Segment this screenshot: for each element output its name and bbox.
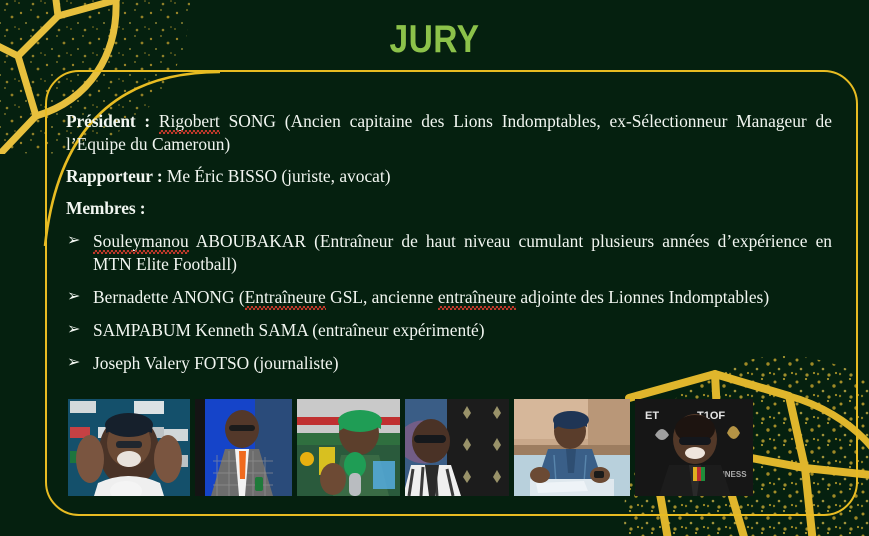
photo-jury-member-1 [68,399,190,496]
role-president-name-misspelled: Rigobert [159,111,220,131]
jury-photo-strip: ET T1OF NNESS [68,399,760,496]
member-1-misspelled: Souleymanou [93,231,189,251]
member-4-text: Joseph Valery FOTSO (journaliste) [93,352,832,375]
photo-jury-member-5 [514,399,630,496]
role-president-label: Président : [66,111,150,131]
member-2-pre: Bernadette ANONG ( [93,287,245,307]
bullet-arrow-icon: ➢ [67,351,80,372]
member-2-text: Bernadette ANONG (Entraîneure GSL, ancie… [93,286,832,309]
page-title: JURY [61,18,808,62]
role-president: Président : Rigobert SONG (Ancien capita… [66,110,832,156]
jury-content: Président : Rigobert SONG (Ancien capita… [66,110,832,385]
role-rapporteur: Rapporteur : Me Éric BISSO (juriste, avo… [66,165,832,188]
member-2-mid: GSL, ancienne [326,287,438,307]
member-2-misspelled-2: entraîneure [438,287,516,307]
member-1-text: Souleymanou ABOUBAKAR (Entraîneur de hau… [93,230,832,276]
member-1-rest: ABOUBAKAR (Entraîneur de haut niveau cum… [93,231,832,274]
photo-jury-member-2 [195,399,292,496]
photo-jury-member-4 [405,399,509,496]
list-item: ➢ SAMPABUM Kenneth SAMA (entraîneur expé… [66,319,832,342]
photo-jury-member-6: ET T1OF NNESS [635,399,753,496]
member-2-misspelled: Entraîneure [245,287,326,307]
bullet-arrow-icon: ➢ [67,318,80,339]
list-item: ➢ Souleymanou ABOUBAKAR (Entraîneur de h… [66,230,832,276]
list-item: ➢ Joseph Valery FOTSO (journaliste) [66,352,832,375]
slide-jury: JURY Président : Rigobert SONG (Ancien c… [0,0,869,536]
svg-text:ET: ET [645,410,659,422]
bullet-arrow-icon: ➢ [67,285,80,306]
role-rapporteur-detail: Me Éric BISSO (juriste, avocat) [163,166,391,186]
bullet-arrow-icon: ➢ [67,229,80,250]
role-rapporteur-label: Rapporteur : [66,166,163,186]
list-item: ➢ Bernadette ANONG (Entraîneure GSL, anc… [66,286,832,309]
members-list: ➢ Souleymanou ABOUBAKAR (Entraîneur de h… [66,230,832,376]
member-2-rest: adjointe des Lionnes Indomptables) [516,287,769,307]
members-heading-label: Membres : [66,198,145,218]
members-heading: Membres : [66,197,832,220]
photo-jury-member-3 [297,399,400,496]
member-3-text: SAMPABUM Kenneth SAMA (entraîneur expéri… [93,319,832,342]
